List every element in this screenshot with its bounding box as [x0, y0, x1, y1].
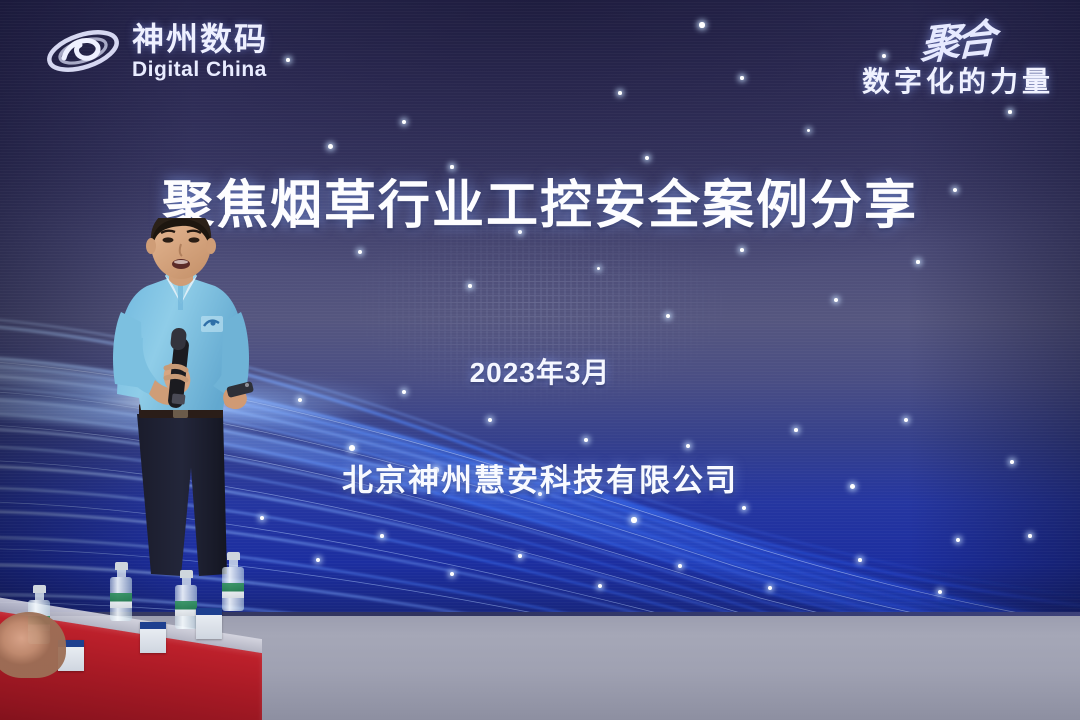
brand-name-en: Digital China	[132, 59, 268, 80]
light-particle	[834, 298, 838, 302]
light-particle	[316, 558, 321, 563]
light-particle	[645, 156, 649, 160]
light-particle	[666, 314, 670, 318]
light-particle	[468, 284, 471, 287]
light-particle	[904, 418, 908, 422]
light-particle	[678, 564, 682, 568]
name-card	[196, 608, 222, 639]
light-particle	[402, 120, 406, 124]
light-particle	[1028, 534, 1031, 537]
light-particle	[349, 445, 355, 451]
light-particle	[598, 584, 602, 588]
light-particle	[631, 517, 636, 522]
light-particle	[858, 558, 862, 562]
light-particle	[740, 248, 744, 252]
light-particle	[584, 438, 588, 442]
light-particle	[298, 398, 303, 403]
light-particle	[358, 250, 362, 254]
light-particle	[450, 572, 454, 576]
light-particle	[1008, 110, 1011, 113]
light-particle	[450, 165, 453, 168]
light-particle	[938, 590, 942, 594]
brand-text: 神州数码 Digital China	[132, 23, 268, 80]
presenter	[95, 218, 280, 618]
light-particle	[794, 428, 798, 432]
name-card	[140, 622, 166, 653]
shirt-chest-logo	[201, 316, 223, 332]
conference-photo: 聚焦烟草行业工控安全案例分享 2023年3月 北京神州慧安科技有限公司 神州数码…	[0, 0, 1080, 720]
event-slogan: 聚合 数字化的力量	[862, 20, 1054, 100]
light-particle	[286, 58, 290, 62]
light-particle	[618, 91, 622, 95]
light-particle	[488, 418, 492, 422]
light-particle	[768, 586, 772, 590]
light-particle	[956, 538, 960, 542]
seated-attendee	[0, 612, 66, 678]
light-particle	[740, 76, 743, 79]
light-particle	[916, 260, 919, 263]
brand-name-cn: 神州数码	[132, 23, 268, 55]
light-particle	[380, 534, 384, 538]
light-particle	[686, 444, 690, 448]
light-particle	[742, 506, 747, 511]
light-particle	[699, 22, 704, 27]
event-slogan-calligraphy: 聚合	[862, 20, 993, 72]
brand-logo: 神州数码 Digital China	[44, 18, 268, 84]
light-particle	[518, 554, 521, 557]
light-particle	[328, 144, 333, 149]
light-particle	[807, 129, 810, 132]
digital-china-spiral-icon	[44, 18, 122, 84]
light-particle	[597, 267, 600, 270]
